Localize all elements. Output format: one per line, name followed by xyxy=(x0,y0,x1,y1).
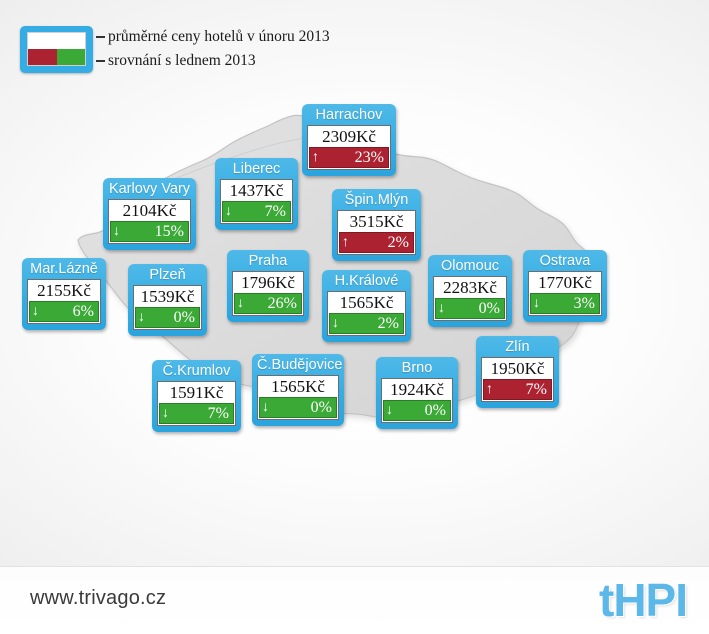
legend-delta-area xyxy=(28,49,85,65)
city-badge[interactable]: H.Králové1565Kč↓2% xyxy=(322,270,411,342)
city-name: Olomouc xyxy=(433,256,507,276)
arrow-down-icon: ↓ xyxy=(162,404,173,423)
city-values-panel: 1950Kč↑7% xyxy=(481,357,554,402)
city-change-bar: ↑2% xyxy=(339,232,414,253)
city-price: 1539Kč xyxy=(135,287,200,307)
city-change-bar: ↓7% xyxy=(159,403,234,424)
arrow-up-icon: ↑ xyxy=(342,233,353,252)
legend-decrease-color xyxy=(57,49,86,65)
city-badge[interactable]: Č.Krumlov1591Kč↓7% xyxy=(152,360,241,432)
site-url[interactable]: www.trivago.cz xyxy=(30,587,166,610)
city-name: Zlín xyxy=(481,337,554,357)
city-values-panel: 2155Kč↓6% xyxy=(27,279,101,324)
city-change-bar: ↓3% xyxy=(530,293,600,314)
city-change-percent: 7% xyxy=(173,404,229,423)
city-change-bar: ↓0% xyxy=(435,298,505,319)
city-price: 2283Kč xyxy=(435,278,505,298)
city-change-percent: 0% xyxy=(449,299,500,318)
city-change-percent: 6% xyxy=(43,302,94,321)
arrow-down-icon: ↓ xyxy=(332,314,343,333)
city-price: 1770Kč xyxy=(530,273,600,293)
city-values-panel: 1796Kč↓26% xyxy=(232,271,304,316)
city-name: Harrachov xyxy=(307,105,391,125)
footer-bar: www.trivago.cz tHPI xyxy=(0,566,709,634)
city-price: 2104Kč xyxy=(110,201,189,221)
city-badge[interactable]: Plzeň1539Kč↓0% xyxy=(128,264,207,336)
city-badge[interactable]: Karlovy Vary2104Kč↓15% xyxy=(103,178,196,250)
city-values-panel: 1924Kč↓0% xyxy=(381,378,453,423)
city-change-percent: 7% xyxy=(497,380,547,399)
legend: průměrné ceny hotelů v únoru 2013 srovná… xyxy=(20,25,330,73)
city-change-percent: 7% xyxy=(236,202,286,221)
legend-increase-color xyxy=(28,49,57,65)
city-name: Karlovy Vary xyxy=(108,179,191,199)
city-change-bar: ↓7% xyxy=(222,201,291,222)
city-name: Plzeň xyxy=(133,265,202,285)
arrow-down-icon: ↓ xyxy=(262,398,273,417)
city-change-bar: ↓0% xyxy=(259,397,337,418)
arrow-up-icon: ↑ xyxy=(312,148,323,167)
arrow-down-icon: ↓ xyxy=(113,222,124,241)
arrow-down-icon: ↓ xyxy=(32,302,43,321)
city-badge[interactable]: Praha1796Kč↓26% xyxy=(227,250,309,322)
city-price: 1565Kč xyxy=(259,377,337,397)
city-price: 1924Kč xyxy=(383,380,451,400)
city-price: 1565Kč xyxy=(329,293,404,313)
city-values-panel: 1591Kč↓7% xyxy=(157,381,236,426)
city-price: 2155Kč xyxy=(29,281,99,301)
city-price: 1796Kč xyxy=(234,273,302,293)
city-change-percent: 0% xyxy=(149,308,195,327)
city-name: Liberec xyxy=(220,159,293,179)
arrow-down-icon: ↓ xyxy=(533,294,544,313)
city-values-panel: 1539Kč↓0% xyxy=(133,285,202,330)
city-change-percent: 0% xyxy=(273,398,332,417)
legend-line-1: průměrné ceny hotelů v únoru 2013 xyxy=(96,25,330,49)
legend-line-2: srovnání s lednem 2013 xyxy=(96,49,330,73)
city-name: Ostrava xyxy=(528,251,602,271)
city-change-bar: ↓6% xyxy=(29,301,99,322)
city-change-percent: 2% xyxy=(353,233,409,252)
legend-swatch xyxy=(20,26,93,73)
city-change-bar: ↓26% xyxy=(234,293,302,314)
thpi-logo: tHPI xyxy=(599,573,687,627)
city-change-bar: ↑23% xyxy=(309,147,389,168)
city-change-bar: ↓0% xyxy=(383,400,451,421)
city-values-panel: 2283Kč↓0% xyxy=(433,276,507,321)
city-price: 1591Kč xyxy=(159,383,234,403)
city-name: Mar.Lázně xyxy=(27,259,101,279)
city-values-panel: 1565Kč↓0% xyxy=(257,375,339,420)
city-change-bar: ↑7% xyxy=(483,379,552,400)
city-name: Č.Budějovice xyxy=(257,355,339,375)
legend-swatch-inner xyxy=(27,32,86,66)
city-price: 1437Kč xyxy=(222,181,291,201)
city-badge[interactable]: Zlín1950Kč↑7% xyxy=(476,336,559,408)
city-name: Praha xyxy=(232,251,304,271)
city-price: 2309Kč xyxy=(309,127,389,147)
city-name: H.Králové xyxy=(327,271,406,291)
city-badge[interactable]: Špin.Mlýn3515Kč↑2% xyxy=(332,189,421,261)
legend-price-area xyxy=(28,33,85,49)
city-change-bar: ↓15% xyxy=(110,221,189,242)
city-badge[interactable]: Liberec1437Kč↓7% xyxy=(215,158,298,230)
city-name: Špin.Mlýn xyxy=(337,190,416,210)
city-change-bar: ↓0% xyxy=(135,307,200,328)
city-values-panel: 1437Kč↓7% xyxy=(220,179,293,224)
legend-text-block: průměrné ceny hotelů v únoru 2013 srovná… xyxy=(96,25,330,73)
city-values-panel: 2104Kč↓15% xyxy=(108,199,191,244)
arrow-down-icon: ↓ xyxy=(438,299,449,318)
city-price: 1950Kč xyxy=(483,359,552,379)
city-change-percent: 3% xyxy=(544,294,595,313)
city-values-panel: 1565Kč↓2% xyxy=(327,291,406,336)
city-change-percent: 15% xyxy=(124,222,184,241)
city-badge[interactable]: Č.Budějovice1565Kč↓0% xyxy=(252,354,344,426)
city-name: Č.Krumlov xyxy=(157,361,236,381)
city-badge[interactable]: Olomouc2283Kč↓0% xyxy=(428,255,512,327)
city-values-panel: 1770Kč↓3% xyxy=(528,271,602,316)
city-badge[interactable]: Harrachov2309Kč↑23% xyxy=(302,104,396,176)
city-name: Brno xyxy=(381,358,453,378)
arrow-down-icon: ↓ xyxy=(386,401,397,420)
city-change-percent: 2% xyxy=(343,314,399,333)
infographic-canvas: průměrné ceny hotelů v únoru 2013 srovná… xyxy=(0,0,709,634)
arrow-down-icon: ↓ xyxy=(225,202,236,221)
city-badge[interactable]: Mar.Lázně2155Kč↓6% xyxy=(22,258,106,330)
city-change-percent: 26% xyxy=(248,294,297,313)
arrow-down-icon: ↓ xyxy=(138,308,149,327)
city-values-panel: 3515Kč↑2% xyxy=(337,210,416,255)
city-change-bar: ↓2% xyxy=(329,313,404,334)
arrow-down-icon: ↓ xyxy=(237,294,248,313)
city-change-percent: 23% xyxy=(323,148,384,167)
city-badge[interactable]: Brno1924Kč↓0% xyxy=(376,357,458,429)
city-price: 3515Kč xyxy=(339,212,414,232)
city-badge[interactable]: Ostrava1770Kč↓3% xyxy=(523,250,607,322)
city-values-panel: 2309Kč↑23% xyxy=(307,125,391,170)
arrow-up-icon: ↑ xyxy=(486,380,497,399)
city-change-percent: 0% xyxy=(397,401,446,420)
